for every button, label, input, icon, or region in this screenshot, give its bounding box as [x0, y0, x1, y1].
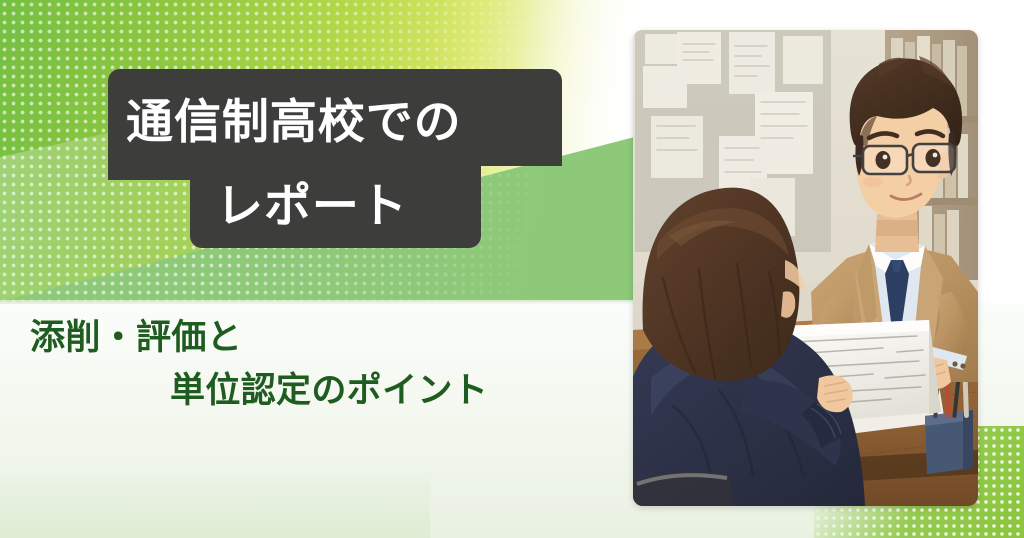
title-line-1: 通信制高校での — [108, 69, 562, 166]
title-group: 通信制高校での レポート — [0, 0, 620, 300]
subtitle-line-2: 単位認定のポイント — [0, 365, 620, 418]
subtitle-line-1: 添削・評価と — [0, 312, 620, 365]
title-line-2: レポート — [190, 154, 481, 248]
background-bottom-left-tint — [0, 466, 430, 538]
illustration-svg — [633, 30, 978, 506]
subtitle-group: 添削・評価と 単位認定のポイント — [0, 312, 620, 418]
banner: 通信制高校での レポート 添削・評価と 単位認定のポイント — [0, 0, 1024, 538]
hero-illustration — [633, 30, 978, 506]
